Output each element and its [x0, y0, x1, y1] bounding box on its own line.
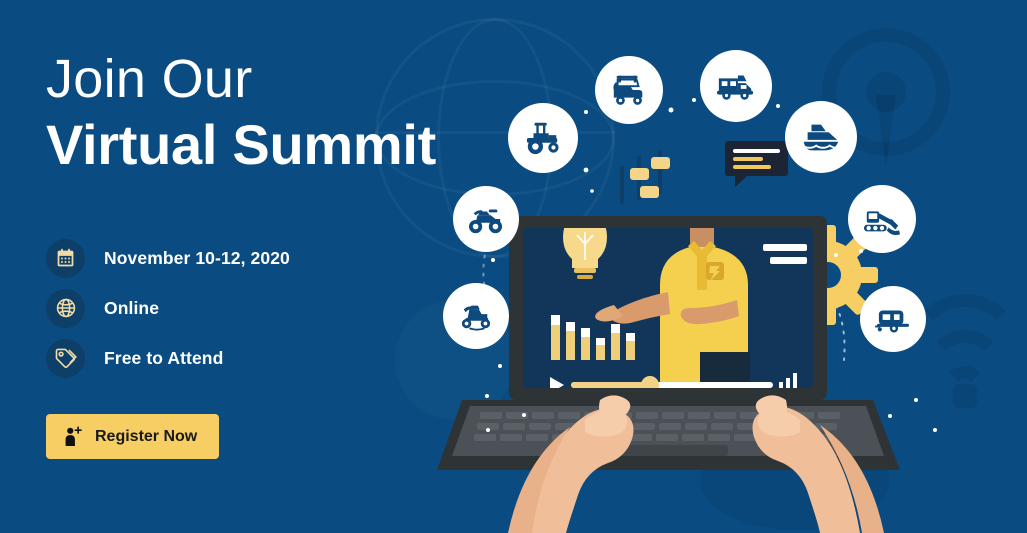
info-row-price: Free to Attend — [46, 333, 290, 383]
tag-icon — [46, 339, 85, 378]
category-bubble-excavator[interactable] — [848, 185, 916, 253]
event-details-list: November 10-12, 2020 Online — [46, 233, 290, 383]
category-bubble-atv-quad[interactable] — [453, 186, 519, 252]
category-bubble-speedboat[interactable] — [785, 101, 857, 173]
virtual-summit-banner: Join Our Virtual Summit November 10-12, … — [0, 0, 1027, 533]
equalizer-sliders — [620, 150, 670, 204]
page-title-line1: Join Our — [46, 52, 466, 107]
speedboat-icon — [800, 120, 842, 154]
category-bubble-golf-cart[interactable] — [595, 56, 663, 124]
info-label-price: Free to Attend — [104, 348, 223, 369]
category-bubble-travel-trailer[interactable] — [860, 286, 926, 352]
headline-block: Join Our Virtual Summit — [46, 52, 466, 176]
laptop-trackpad — [618, 445, 728, 456]
progress-fill — [571, 382, 647, 388]
excavator-icon — [862, 200, 902, 238]
info-row-date: November 10-12, 2020 — [46, 233, 290, 283]
tractor-icon — [523, 119, 563, 157]
category-bubble-rv-motorhome[interactable] — [700, 50, 772, 122]
presenter-hair — [677, 160, 727, 190]
atv-quad-icon — [466, 202, 506, 236]
rv-motorhome-icon — [716, 66, 756, 106]
register-now-button[interactable]: Register Now — [46, 414, 219, 459]
page-title-line2: Virtual Summit — [46, 115, 466, 175]
golf-cart-icon — [610, 71, 648, 109]
lawn-mower-icon — [456, 300, 496, 332]
calendar-icon — [46, 239, 85, 278]
chat-bubble — [725, 141, 788, 187]
category-bubble-tractor[interactable] — [508, 103, 578, 173]
info-label-date: November 10-12, 2020 — [104, 248, 290, 269]
register-now-label: Register Now — [95, 428, 197, 446]
info-label-location: Online — [104, 298, 159, 319]
person-plus-icon — [63, 426, 82, 447]
category-bubble-lawn-mower[interactable] — [443, 283, 509, 349]
travel-trailer-icon — [873, 303, 913, 335]
globe-icon — [46, 289, 85, 328]
info-row-location: Online — [46, 283, 290, 333]
